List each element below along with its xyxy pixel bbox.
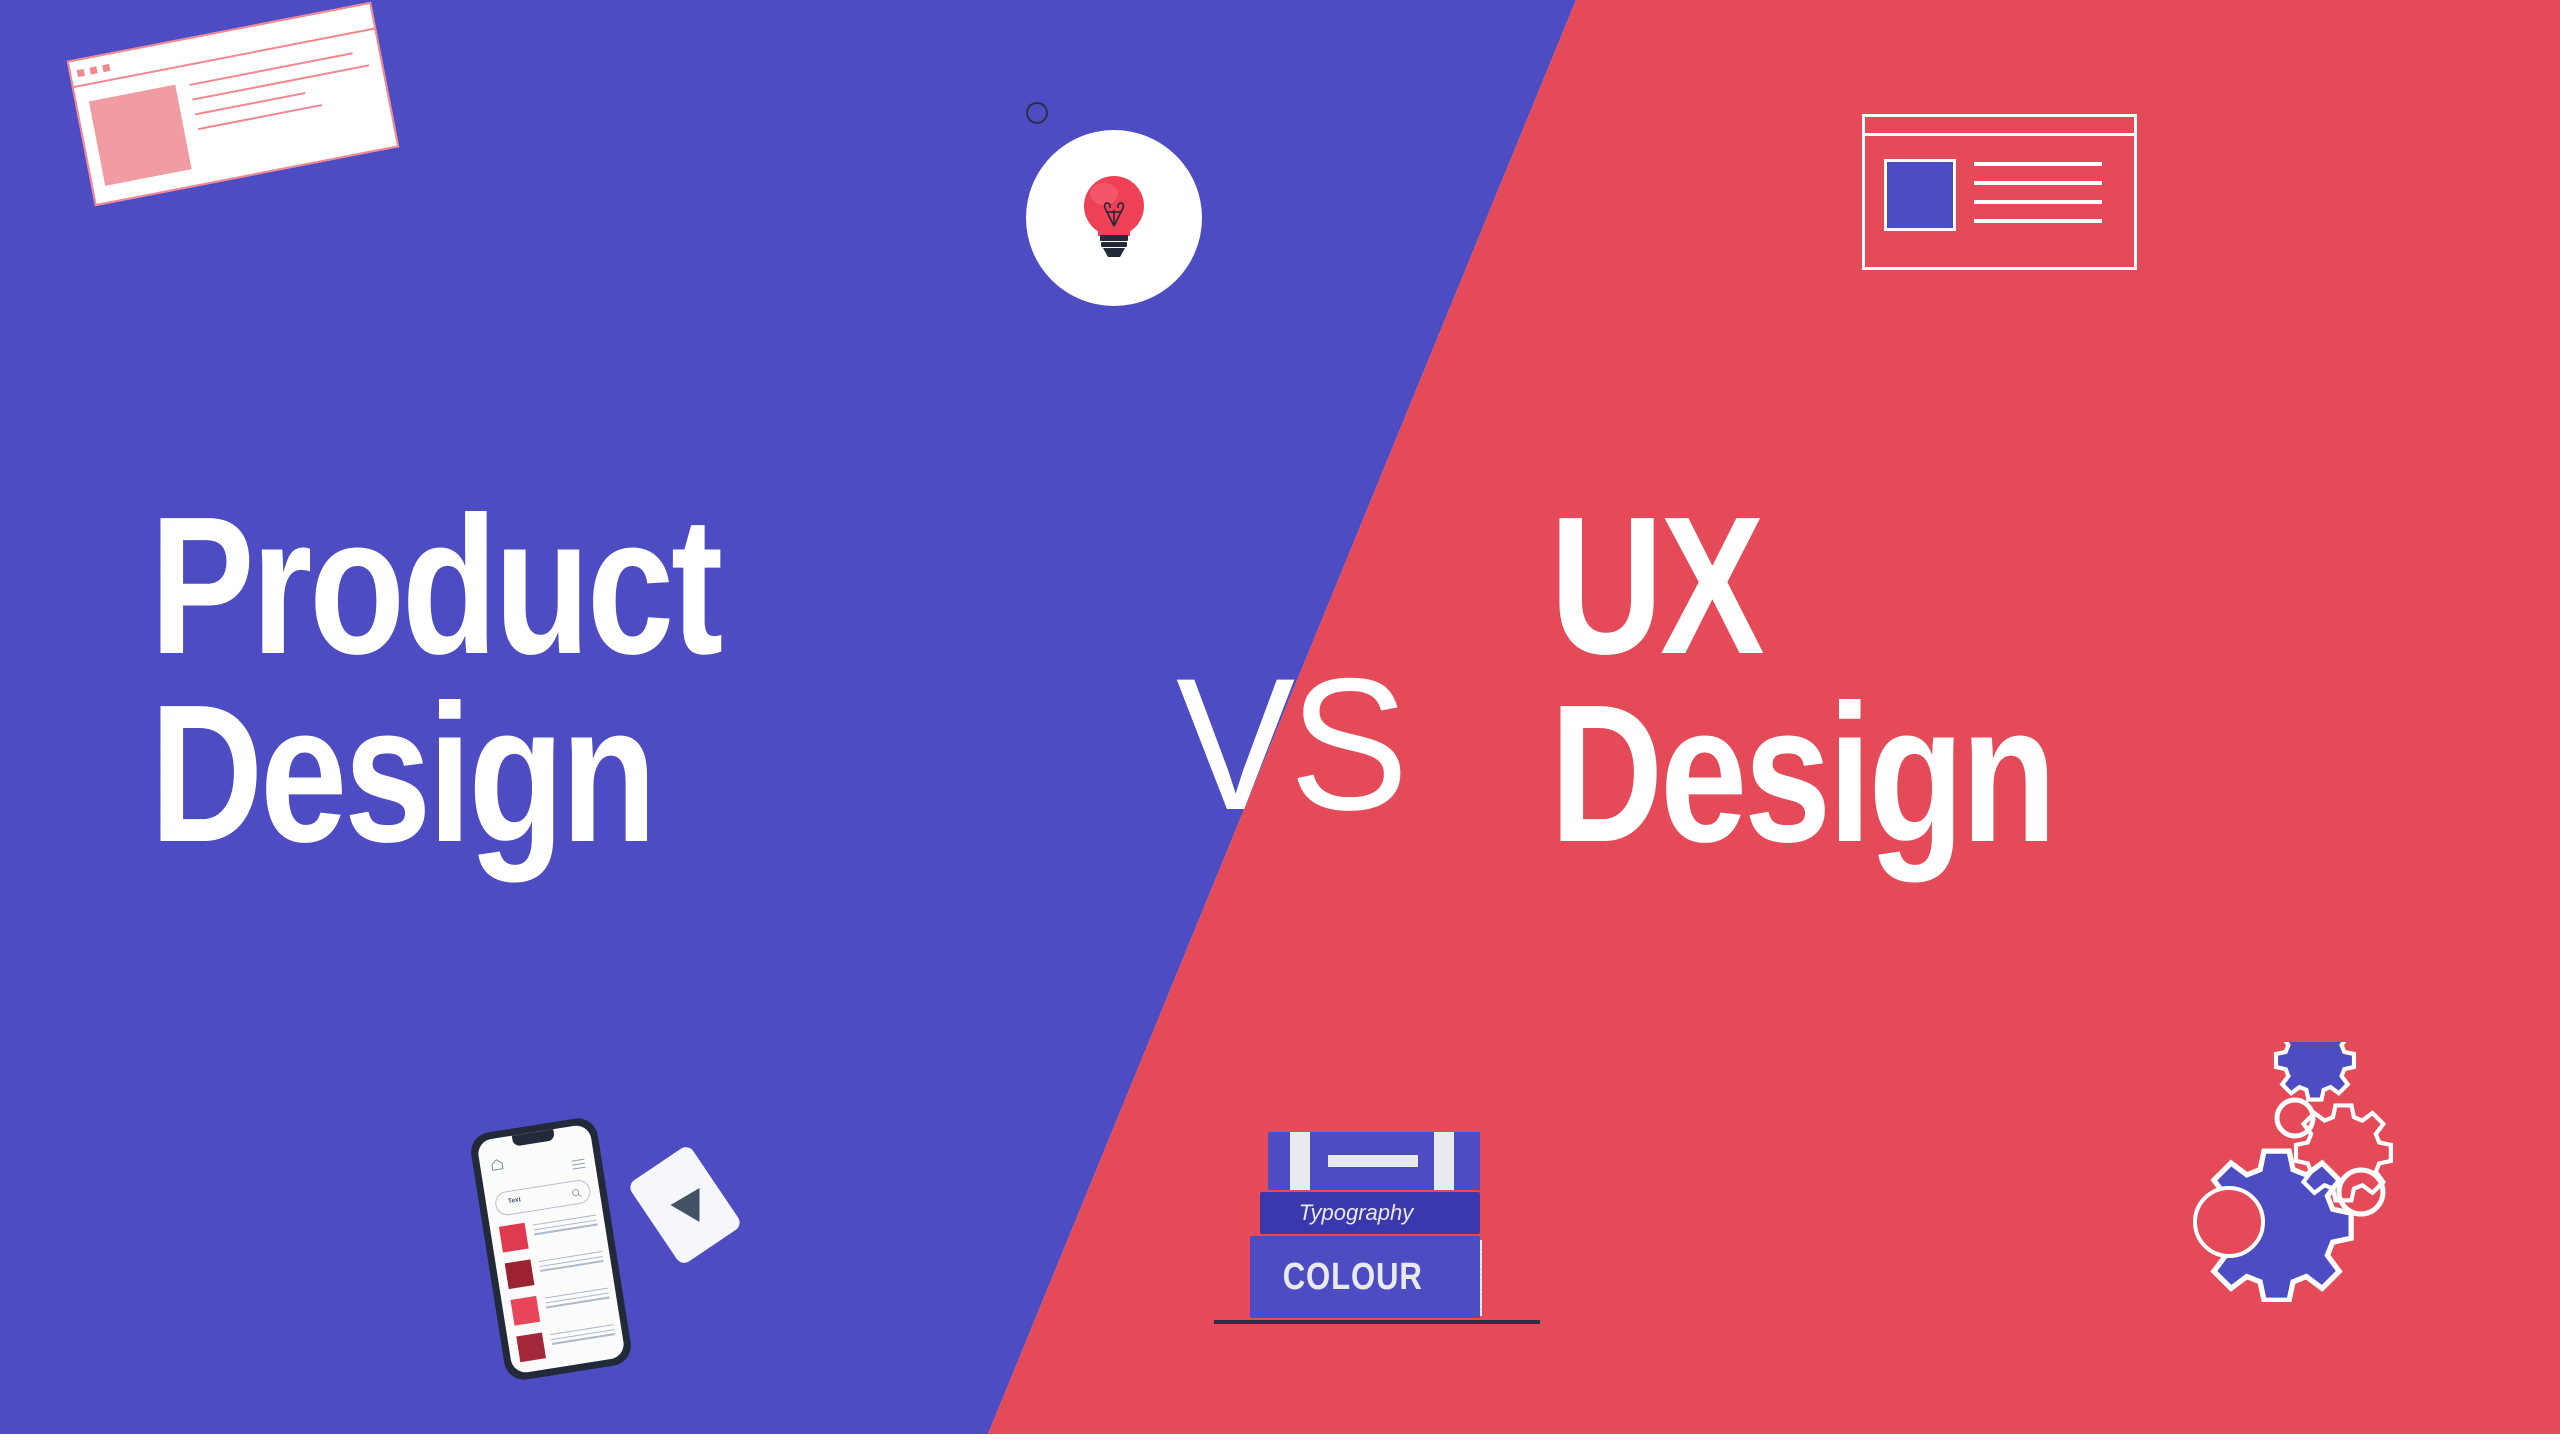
window-dot-minimize bbox=[89, 66, 97, 74]
list-item-lines bbox=[544, 1285, 609, 1309]
phone-list bbox=[499, 1212, 623, 1375]
hamburger-menu-icon bbox=[571, 1159, 585, 1170]
book-middle: Typography bbox=[1260, 1192, 1480, 1234]
search-icon bbox=[571, 1188, 582, 1199]
lightbulb-icon bbox=[1026, 130, 1202, 306]
gear-small-icon bbox=[2276, 1042, 2354, 1136]
book-top bbox=[1268, 1132, 1480, 1190]
book-bottom: COLOUR bbox=[1250, 1236, 1480, 1318]
search-input[interactable]: Text bbox=[494, 1178, 593, 1217]
book-title-bar bbox=[1328, 1155, 1418, 1167]
gear-large-icon bbox=[2195, 1151, 2351, 1300]
window-dot-close bbox=[77, 69, 85, 77]
list-item[interactable] bbox=[510, 1285, 611, 1326]
book-bottom-label: COLOUR bbox=[1271, 1236, 1460, 1318]
list-item[interactable] bbox=[516, 1321, 617, 1362]
lightbulb-badge bbox=[1026, 130, 1202, 306]
list-item-thumbnail bbox=[510, 1296, 540, 1326]
list-item-lines bbox=[532, 1212, 597, 1236]
play-triangle-icon bbox=[671, 1188, 700, 1222]
wireframe-text-lines bbox=[1974, 162, 2102, 223]
home-icon bbox=[490, 1158, 504, 1172]
gears-cluster bbox=[2132, 1042, 2422, 1302]
small-circle-outline-icon bbox=[1026, 102, 1048, 124]
text-line bbox=[1974, 162, 2102, 166]
slide-canvas: Product Design VS UX Design Text bbox=[0, 0, 2560, 1440]
text-line bbox=[1974, 219, 2102, 223]
books-stack: Typography COLOUR bbox=[1236, 1132, 1516, 1352]
list-item-lines bbox=[538, 1248, 603, 1272]
window-dot-maximize bbox=[102, 64, 110, 72]
right-title: UX Design bbox=[1550, 492, 2054, 868]
list-item-thumbnail bbox=[516, 1332, 546, 1362]
list-item-thumbnail bbox=[499, 1223, 529, 1253]
wireframe-layout bbox=[1862, 114, 2137, 270]
list-item-thumbnail bbox=[505, 1259, 535, 1289]
search-input-value: Text bbox=[508, 1196, 522, 1205]
list-item[interactable] bbox=[505, 1248, 606, 1289]
text-line bbox=[1974, 200, 2102, 204]
book-band bbox=[1290, 1132, 1310, 1190]
wireframe-titlebar bbox=[1862, 114, 2137, 136]
book-middle-label: Typography bbox=[1260, 1192, 1480, 1234]
left-title: Product Design bbox=[150, 492, 720, 868]
text-line bbox=[1974, 181, 2102, 185]
list-item[interactable] bbox=[499, 1212, 600, 1253]
browser-image-placeholder bbox=[89, 85, 192, 186]
wireframe-image-block bbox=[1884, 159, 1956, 231]
list-item-lines bbox=[550, 1321, 615, 1345]
versus-label: VS bbox=[1176, 650, 1403, 838]
book-band bbox=[1434, 1132, 1454, 1190]
shelf-line bbox=[1214, 1320, 1540, 1324]
